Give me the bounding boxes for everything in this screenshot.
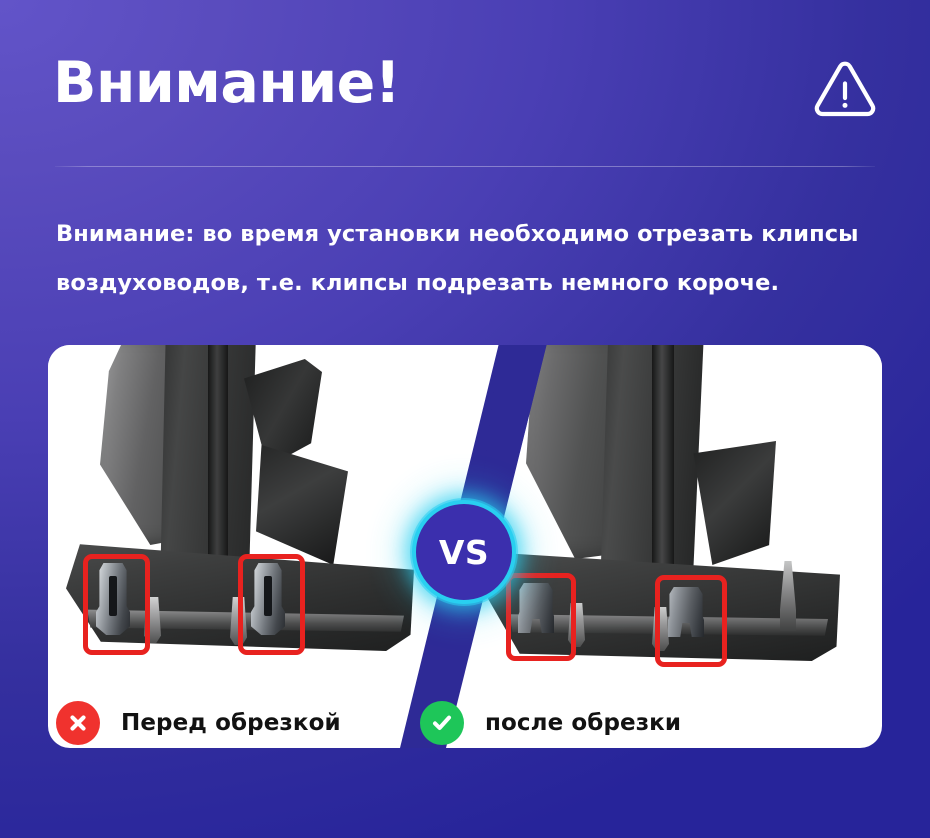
highlight-box-left [83,554,150,655]
highlight-box-right [655,575,727,667]
label-after: после обрезки [485,710,681,736]
cross-circle-icon [56,701,100,745]
check-circle-icon [420,701,464,745]
label-before: Перед обрезкой [121,710,341,736]
vs-badge: VS [412,500,516,604]
photo-after [462,345,882,697]
poster-header: Внимание! [0,0,930,170]
duct-side-wing [244,359,322,467]
photo-before [48,345,468,697]
notice-text: Внимание: во время установки необходимо … [56,210,886,308]
label-row-after: после обрезки [420,697,681,748]
header-divider [55,166,875,167]
comparison-labels: Перед обрезкой после обрезки [48,697,882,748]
label-row-before: Перед обрезкой [56,697,341,748]
notice-line-1: Внимание: во время установки необходимо … [56,210,886,259]
notice-line-2: воздуховодов, т.е. клипсы подрезать немн… [56,259,886,308]
warning-poster: Внимание! Внимание: во время установки н… [0,0,930,838]
warning-triangle-icon [814,60,876,118]
highlight-box-left [506,573,576,661]
page-title: Внимание! [53,54,400,114]
duct-side-wing-lower [256,445,348,565]
highlight-box-right [238,554,305,655]
duct-side-wing [690,441,776,565]
vs-label: VS [439,536,489,569]
